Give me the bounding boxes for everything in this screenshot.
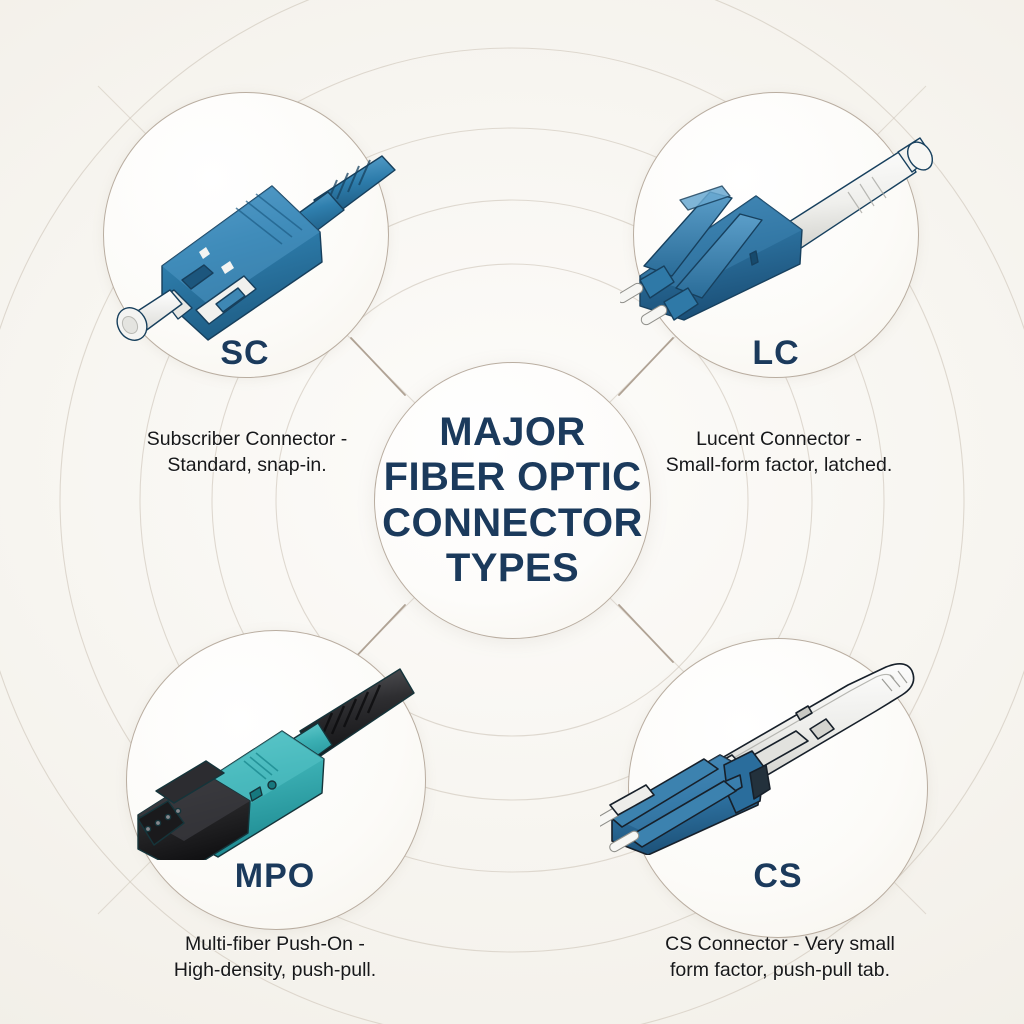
infographic-canvas: SC Subscriber Connector - Standard, snap…	[0, 0, 1024, 1024]
label-sc-text: SC	[220, 334, 269, 372]
description-sc-line2: Standard, snap-in.	[82, 453, 412, 479]
description-sc-line1: Subscriber Connector -	[82, 427, 412, 453]
description-lc: Lucent Connector - Small-form factor, la…	[614, 427, 944, 478]
description-mpo-line1: Multi-fiber Push-On -	[110, 932, 440, 958]
center-title: MAJOR FIBER OPTIC CONNECTOR TYPES	[374, 410, 651, 591]
center-hub[interactable]: MAJOR FIBER OPTIC CONNECTOR TYPES	[374, 362, 651, 639]
label-mpo-text: MPO	[235, 857, 315, 895]
center-title-line2: FIBER OPTIC	[382, 455, 643, 500]
description-mpo: Multi-fiber Push-On - High-density, push…	[110, 932, 440, 983]
connector-line-mpo	[351, 605, 405, 662]
description-lc-line2: Small-form factor, latched.	[614, 453, 944, 479]
description-lc-line1: Lucent Connector -	[614, 427, 944, 453]
center-title-line1: MAJOR	[382, 410, 643, 455]
label-lc: LC	[626, 334, 926, 373]
label-lc-text: LC	[752, 334, 799, 372]
label-cs-text: CS	[753, 857, 802, 895]
description-cs: CS Connector - Very small form factor, p…	[615, 932, 945, 983]
label-cs: CS	[628, 857, 928, 896]
description-cs-line2: form factor, push-pull tab.	[615, 958, 945, 984]
center-title-line4: TYPES	[382, 546, 643, 591]
description-mpo-line2: High-density, push-pull.	[110, 958, 440, 984]
connector-line-cs	[619, 605, 673, 662]
center-title-line3: CONNECTOR	[382, 501, 643, 546]
label-mpo: MPO	[125, 857, 425, 896]
label-sc: SC	[95, 334, 395, 373]
description-sc: Subscriber Connector - Standard, snap-in…	[82, 427, 412, 478]
description-cs-line1: CS Connector - Very small	[615, 932, 945, 958]
